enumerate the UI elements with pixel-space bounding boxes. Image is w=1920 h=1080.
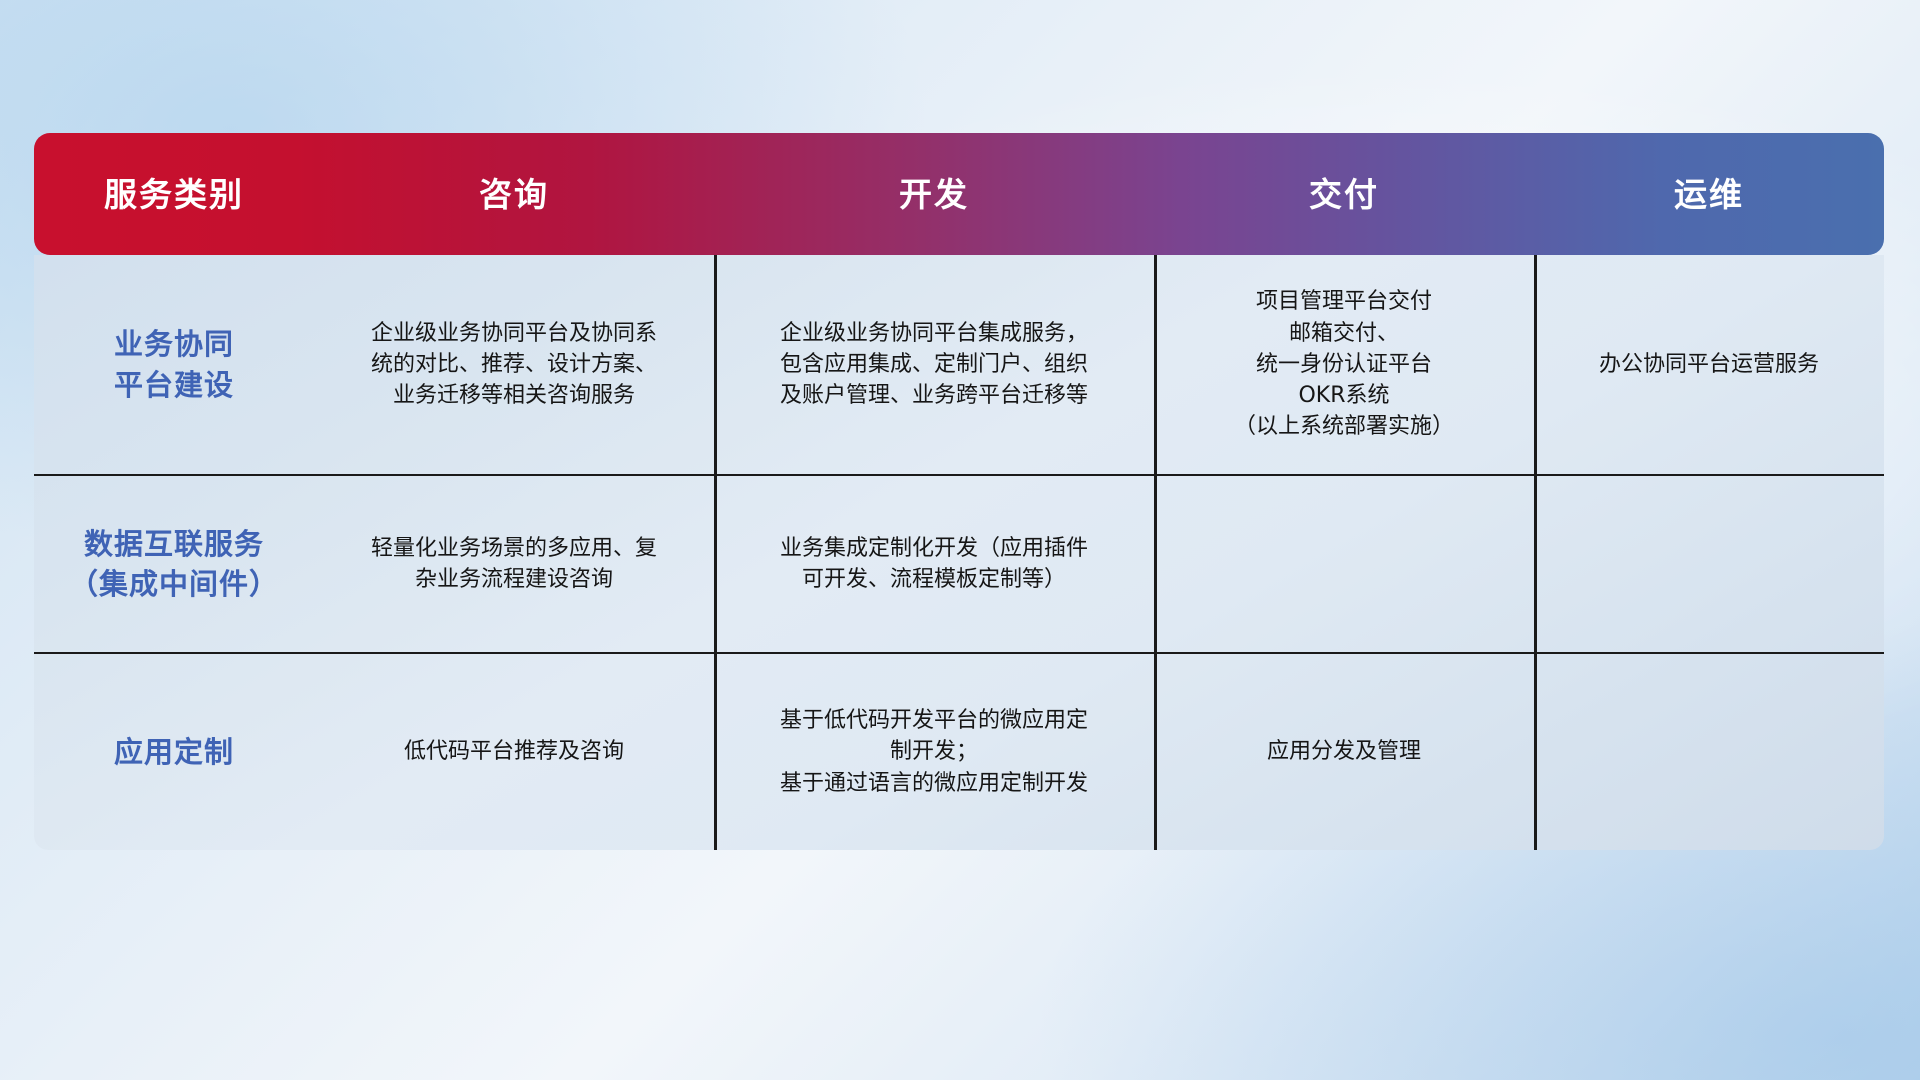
column-header-delivery: 交付 [1154,133,1534,255]
table-row: 业务协同 平台建设 企业级业务协同平台及协同系 统的对比、推荐、设计方案、 业务… [34,255,1884,474]
table-body: 业务协同 平台建设 企业级业务协同平台及协同系 统的对比、推荐、设计方案、 业务… [34,255,1884,850]
cell-development-row1: 企业级业务协同平台集成服务， 包含应用集成、定制门户、组织 及账户管理、业务跨平… [714,255,1154,474]
cell-operations-row2 [1534,476,1884,652]
column-header-operations: 运维 [1534,133,1884,255]
column-header-development: 开发 [714,133,1154,255]
cell-consulting-row3: 低代码平台推荐及咨询 [314,654,714,850]
cell-consulting-row2: 轻量化业务场景的多应用、复 杂业务流程建设咨询 [314,476,714,652]
service-matrix-table: 服务类别 咨询 开发 交付 运维 业务协同 平台建设 企业级业务协同平台及协同系… [34,133,1884,958]
cell-development-row3: 基于低代码开发平台的微应用定 制开发； 基于通过语言的微应用定制开发 [714,654,1154,850]
row-label-business-collaboration: 业务协同 平台建设 [34,255,314,474]
row-label-data-interconnect: 数据互联服务 （集成中间件） [34,476,314,652]
slide-stage: 服务类别 咨询 开发 交付 运维 业务协同 平台建设 企业级业务协同平台及协同系… [0,0,1920,1080]
cell-development-row2: 业务集成定制化开发（应用插件 可开发、流程模板定制等） [714,476,1154,652]
cell-operations-row1: 办公协同平台运营服务 [1534,255,1884,474]
cell-delivery-row1: 项目管理平台交付 邮箱交付、 统一身份认证平台 OKR系统 （以上系统部署实施） [1154,255,1534,474]
column-header-category: 服务类别 [34,133,314,255]
table-header-row: 服务类别 咨询 开发 交付 运维 [34,133,1884,255]
column-header-consulting: 咨询 [314,133,714,255]
cell-delivery-row3: 应用分发及管理 [1154,654,1534,850]
table-row: 数据互联服务 （集成中间件） 轻量化业务场景的多应用、复 杂业务流程建设咨询 业… [34,474,1884,652]
cell-consulting-row1: 企业级业务协同平台及协同系 统的对比、推荐、设计方案、 业务迁移等相关咨询服务 [314,255,714,474]
table-row: 应用定制 低代码平台推荐及咨询 基于低代码开发平台的微应用定 制开发； 基于通过… [34,652,1884,850]
cell-operations-row3 [1534,654,1884,850]
cell-delivery-row2 [1154,476,1534,652]
row-label-app-customization: 应用定制 [34,654,314,850]
